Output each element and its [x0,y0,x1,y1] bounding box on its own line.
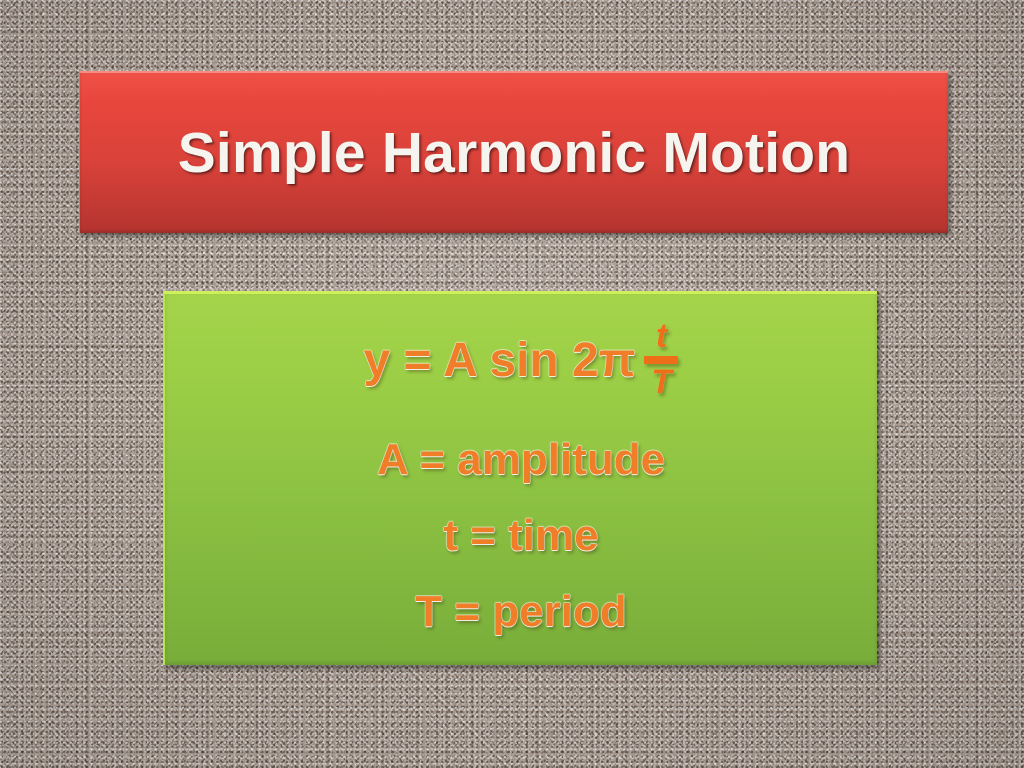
definition-time: t = time [443,514,598,558]
fraction-numerator: t [656,319,667,354]
equation-left-hand-side: y = A sin 2π [364,337,636,385]
slide-title-text: Simple Harmonic Motion [178,120,851,186]
definition-period: T = period [415,590,626,634]
definition-amplitude: A = amplitude [377,438,665,482]
fraction-t-over-T: t T [644,319,678,399]
equation-row: y = A sin 2π t T [364,318,679,404]
fraction-denominator: T [651,365,672,400]
slide-title-banner: Simple Harmonic Motion [79,71,948,233]
presentation-slide: Simple Harmonic Motion y = A sin 2π t T … [0,0,1024,768]
formula-panel: y = A sin 2π t T A = amplitude t = time … [163,291,877,665]
